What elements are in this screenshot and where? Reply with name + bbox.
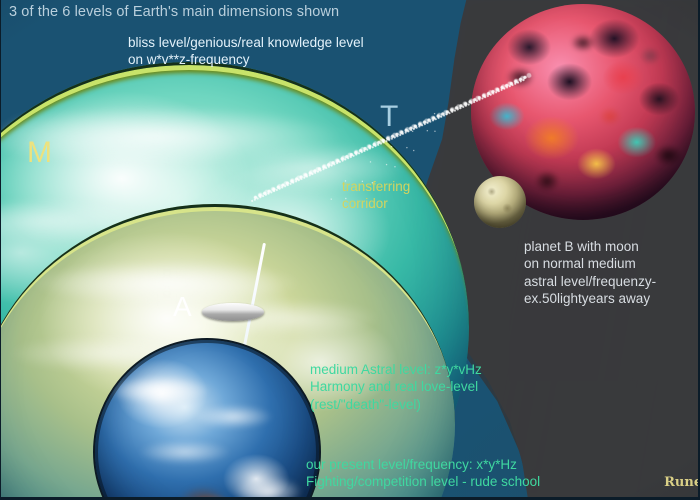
present-level-annotation: our present level/frequency: x*y*Hz Figh… xyxy=(306,456,540,491)
planet-b-annotation: planet B with moon on normal medium astr… xyxy=(524,238,656,307)
diagram-canvas: 3 of the 6 levels of Earth's main dimens… xyxy=(0,0,700,500)
page-title: 3 of the 6 levels of Earth's main dimens… xyxy=(9,3,339,22)
moon-of-planet-b xyxy=(474,176,526,228)
artist-signature: RuneØ. feb06 xyxy=(646,461,700,500)
label-m: M xyxy=(27,134,52,172)
transferring-corridor-label: transferring corridor xyxy=(342,178,410,213)
transfer-craft-disc xyxy=(202,303,264,321)
bliss-level-annotation: bliss level/genious/real knowledge level… xyxy=(128,34,364,69)
astral-level-annotation: medium Astral level: z*y*vHz Harmony and… xyxy=(310,361,482,413)
label-a: A xyxy=(173,289,192,325)
label-t: T xyxy=(380,98,398,136)
signature-name: RuneØ. xyxy=(664,475,700,490)
